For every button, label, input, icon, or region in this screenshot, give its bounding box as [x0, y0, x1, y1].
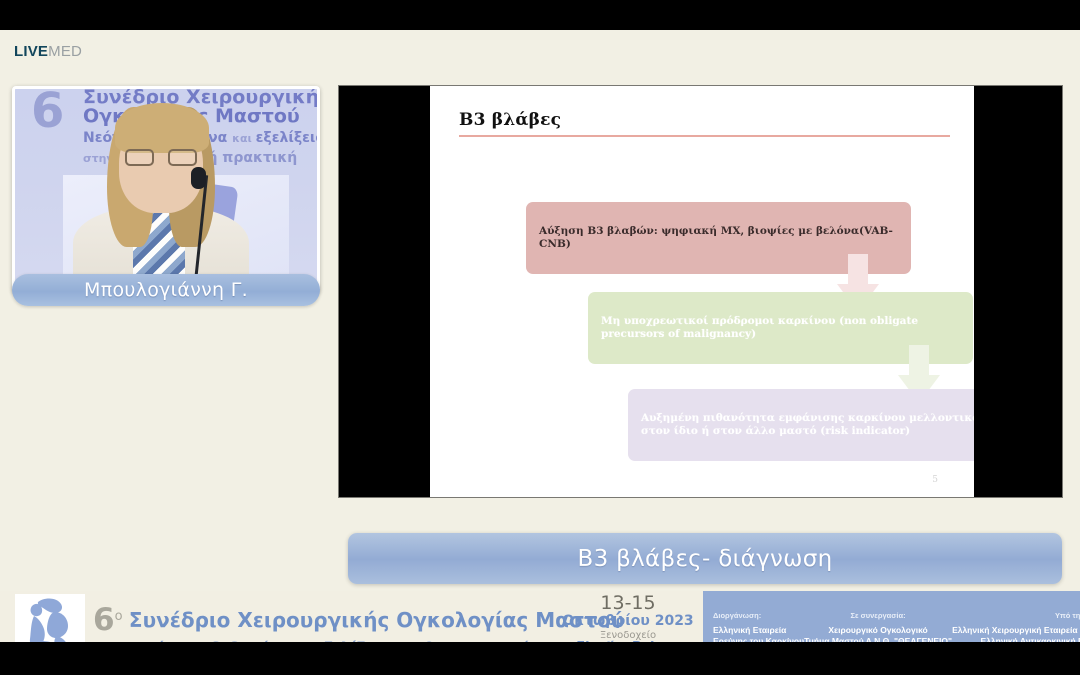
livemed-logo-med: MED: [48, 43, 82, 60]
conference-title-main: Συνέδριο Χειρουργικής Ογκολογίας Μαστού: [129, 608, 625, 632]
conference-dates: 13-15: [553, 593, 703, 614]
conference-month-year: Οκτωβρίου 2023: [553, 614, 703, 630]
conference-organizers: Διοργάνωση: Ελληνική Εταιρεία Ερεύνης το…: [703, 591, 1080, 642]
speaker-name-label: Μπουλογιάννη Γ.: [84, 279, 248, 301]
organizer-line: Ελληνική Εταιρεία: [713, 625, 804, 636]
conference-footer-banner: 6ο Συνέδριο Χειρουργικής Ογκολογίας Μαστ…: [0, 591, 1080, 642]
conference-logo: [15, 594, 85, 642]
organizer-column-auspices: Υπό την Αιγίδα: Ελληνική Χειρουργική Ετα…: [952, 611, 1080, 642]
slide-page-number: 5: [932, 475, 938, 485]
slide-stage[interactable]: Β3 βλάβες Αύξηση Β3 βλαβών: ψηφιακή ΜΧ, …: [339, 86, 1062, 497]
conference-edition-degree: ο: [115, 609, 123, 624]
organizer-column-collaboration: Σε συνεργασία: Χειρουργικό Ογκολογικό Τμ…: [804, 611, 952, 642]
organizer-column-host: Διοργάνωση: Ελληνική Εταιρεία Ερεύνης το…: [713, 611, 804, 642]
conference-subtitle-a: Νεότερα δεδομένα: [135, 639, 295, 642]
livemed-logo: LIVEMED: [14, 44, 82, 59]
backdrop-line-3-small: και: [232, 132, 256, 145]
organizer-heading: Σε συνεργασία:: [804, 611, 952, 621]
conference-title-row: 6ο Συνέδριο Χειρουργικής Ογκολογίας Μαστ…: [93, 602, 553, 638]
conference-title-block: 6ο Συνέδριο Χειρουργικής Ογκολογίας Μαστ…: [85, 591, 553, 642]
speaker-glasses: [125, 149, 197, 166]
matisse-blue-nude-icon: [24, 596, 76, 643]
session-title-bar: Β3 βλάβες- διάγνωση: [348, 533, 1062, 584]
speaker-nameplate: Μπουλογιάννη Γ.: [12, 274, 320, 306]
backdrop-line-3-b: εξελίξεις: [256, 130, 320, 146]
slide-title: Β3 βλάβες: [459, 110, 561, 130]
session-title-label: Β3 βλάβες- διάγνωση: [578, 546, 833, 572]
conference-date-block: 13-15 Οκτωβρίου 2023 Ξενοδοχείο Electra …: [553, 591, 703, 642]
conference-edition-number: 6: [93, 602, 115, 638]
organizer-heading: Διοργάνωση:: [713, 611, 804, 621]
conference-venue-label: Ξενοδοχείο: [553, 630, 703, 641]
slide-title-underline: [459, 135, 950, 137]
glasses-lens-left: [125, 149, 154, 166]
microphone-head: [191, 167, 206, 189]
conference-subtitle-b: εξελίξεις: [316, 639, 394, 642]
glasses-lens-right: [168, 149, 197, 166]
speaker-video-thumbnail[interactable]: 6 Συνέδριο Χειρουργικής Ογκολογίας Μαστο…: [12, 86, 320, 293]
conference-venue-name: Electra Palace: [553, 641, 703, 642]
organizer-heading: Υπό την Αιγίδα:: [952, 611, 1080, 621]
content-panel: LIVEMED 6 Συνέδριο Χειρουργικής Ογκολογί…: [0, 30, 1080, 642]
backdrop-edition-number: 6: [31, 86, 64, 139]
livemed-logo-live: LIVE: [14, 43, 48, 60]
organizer-line: Ελληνική Χειρουργική Εταιρεία Μαστού: [952, 625, 1080, 636]
conference-subtitle-row: Νεότερα δεδομένα και εξελίξεις στην θερα…: [135, 639, 553, 642]
slide-canvas: Β3 βλάβες Αύξηση Β3 βλαβών: ψηφιακή ΜΧ, …: [430, 86, 974, 497]
arrow-shaft: [848, 254, 868, 286]
organizer-line: Τμήμα Μαστού Α.Ν.Θ. "ΘΕΑΓΕΝΕΙΟ": [804, 636, 952, 642]
organizer-line: Χειρουργικό Ογκολογικό: [804, 625, 952, 636]
flow-box-risk-indicator: Αυξημένη πιθανότητα εμφάνισης καρκίνου μ…: [628, 389, 974, 461]
video-player-page: LIVEMED 6 Συνέδριο Χειρουργικής Ογκολογί…: [0, 0, 1080, 675]
speaker-hair-top: [115, 103, 209, 153]
organizer-line: Ελληνική Αντικαρκινική Εταιρεία: [952, 636, 1080, 642]
organizer-line: Ερεύνης του Καρκίνου: [713, 636, 804, 642]
arrow-shaft: [909, 345, 929, 377]
